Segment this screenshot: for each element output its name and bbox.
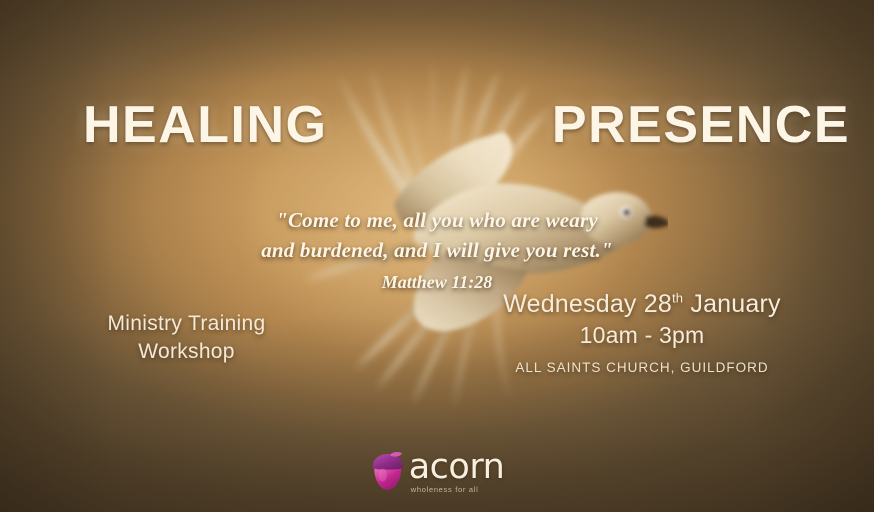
acorn-logo: acorn wholeness for all	[370, 448, 505, 496]
acorn-wordmark-text: acorn	[409, 450, 505, 484]
acorn-icon	[370, 451, 406, 493]
acorn-tagline: wholeness for all	[411, 486, 505, 494]
dove-illustration	[218, 18, 668, 418]
poster-canvas: HEALING PRESENCE "Come to me, all you wh…	[0, 0, 874, 512]
acorn-wordmark: acorn wholeness for all	[409, 450, 505, 494]
